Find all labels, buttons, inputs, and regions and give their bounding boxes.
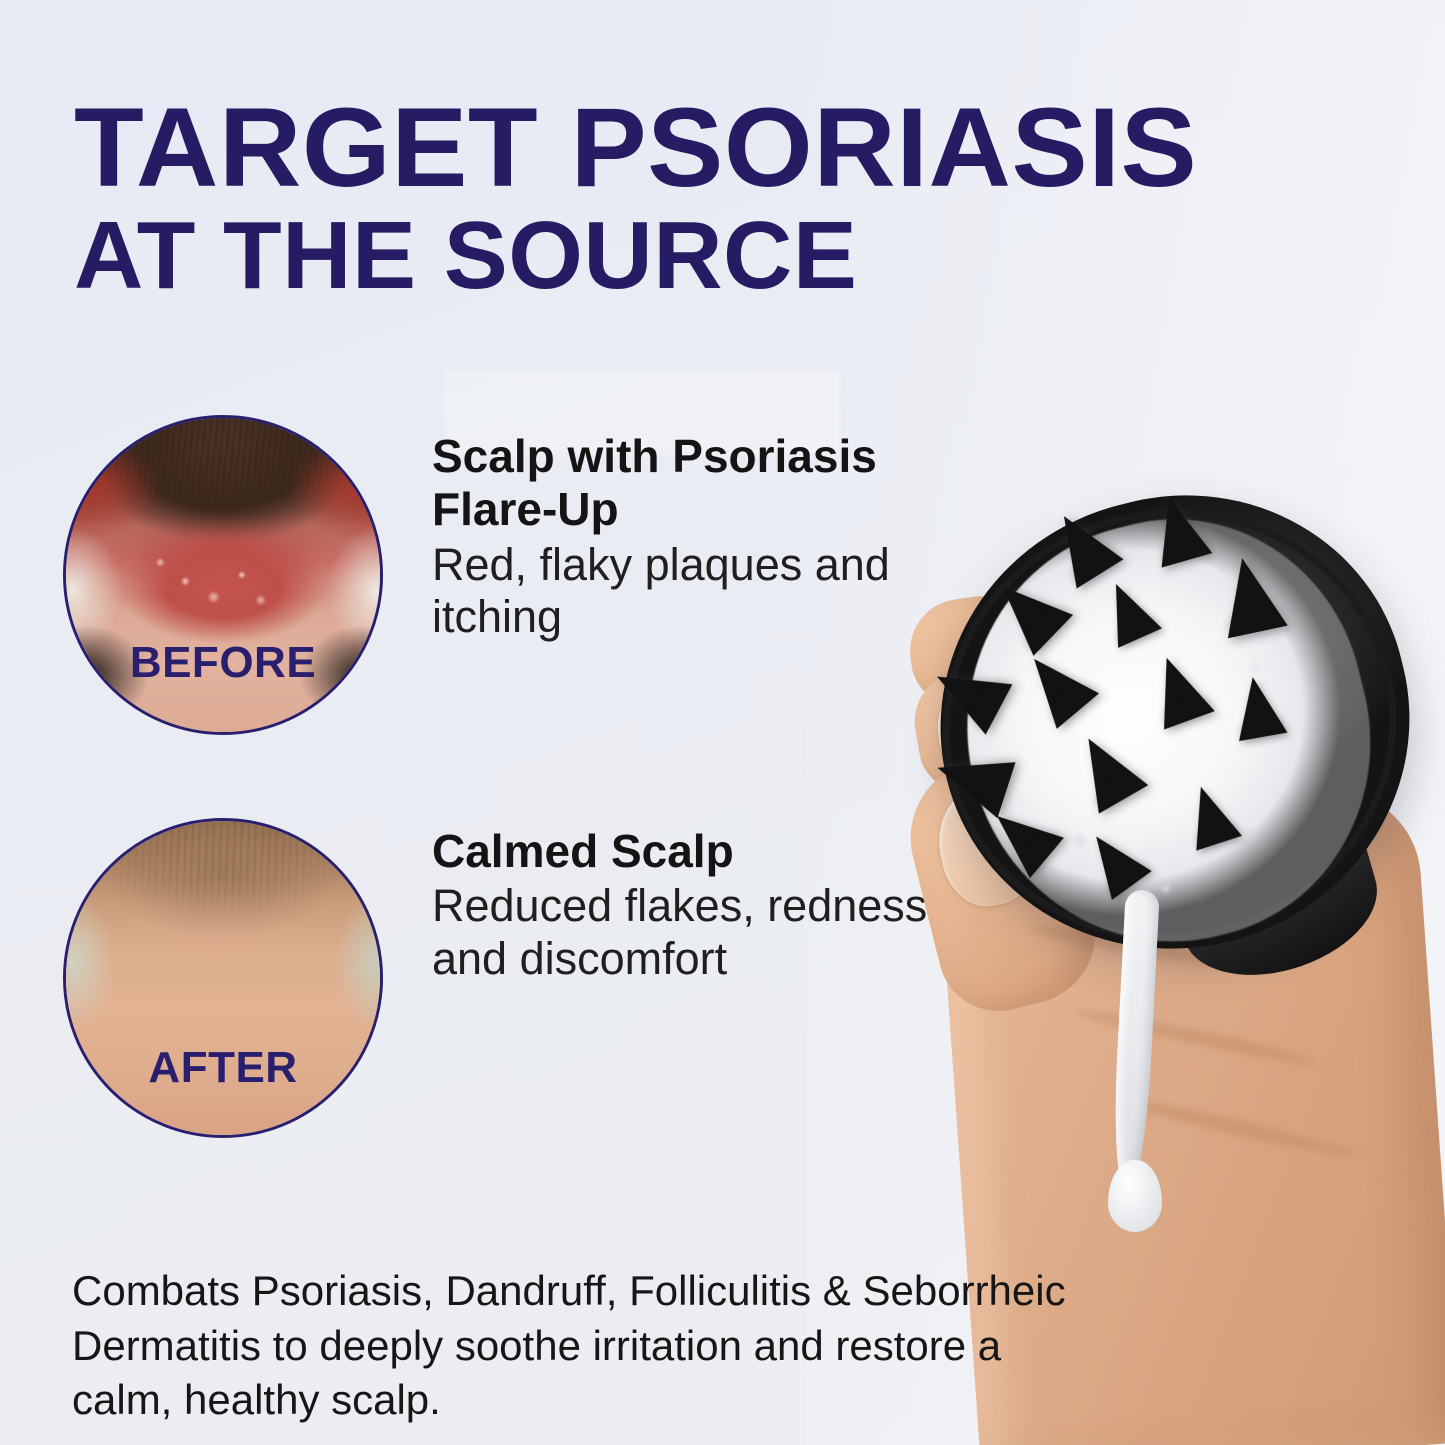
footer-description: Combats Psoriasis, Dandruff, Folliculiti… [72,1264,1082,1428]
foam-droplet [1108,1160,1162,1232]
after-photo-circle: AFTER [63,818,383,1138]
feature-title-1: Scalp with Psoriasis Flare-Up [432,430,952,537]
after-label: AFTER [66,1043,380,1093]
feature-block-before: Scalp with Psoriasis Flare-Up Red, flaky… [432,430,952,644]
headline-line-2: AT THE SOURCE [74,207,1374,305]
page-title: TARGET PSORIASIS AT THE SOURCE [74,96,1374,305]
feature-description-1: Red, flaky plaques and itching [432,539,952,644]
before-photo-circle: BEFORE [63,415,383,735]
feature-block-after: Calmed Scalp Reduced flakes, redness, an… [432,825,952,986]
brush-bristle [1229,673,1288,741]
infographic-canvas: TARGET PSORIASIS AT THE SOURCE BEFORE AF… [0,0,1445,1445]
headline-line-1: TARGET PSORIASIS [74,96,1400,199]
feature-title-2: Calmed Scalp [432,825,952,878]
before-label: BEFORE [66,638,380,688]
feature-description-2: Reduced flakes, redness, and discomfort [432,880,952,985]
